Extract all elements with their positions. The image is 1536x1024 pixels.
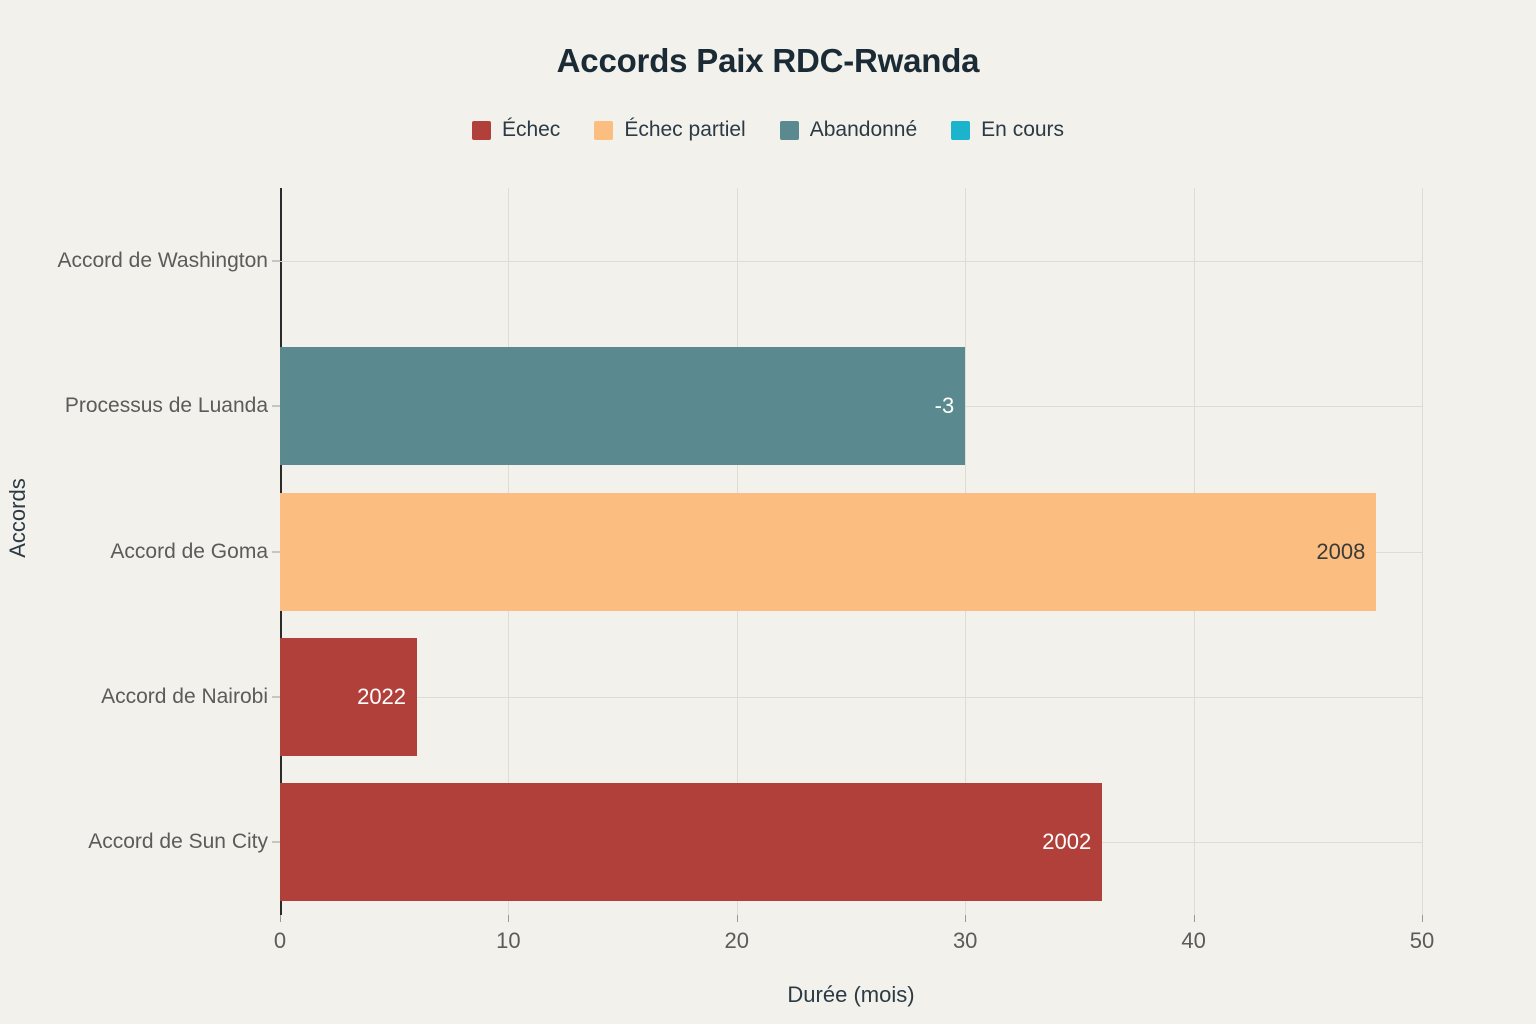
- y-axis-tick-mark: [272, 842, 280, 843]
- gridline-horizontal: [280, 697, 1422, 698]
- bar[interactable]: 2002: [280, 783, 1102, 901]
- bar-value-label: 2002: [1042, 829, 1091, 855]
- y-axis-title: Accords: [5, 438, 31, 598]
- x-axis-tick-label: 30: [953, 928, 977, 954]
- legend-swatch-icon: [594, 121, 613, 140]
- chart-title: Accords Paix RDC-Rwanda: [0, 42, 1536, 80]
- legend-swatch-icon: [472, 121, 491, 140]
- x-axis-tick-label: 0: [274, 928, 286, 954]
- legend-item[interactable]: En cours: [951, 118, 1064, 142]
- legend-item[interactable]: Échec partiel: [594, 118, 745, 142]
- plot-area: -3200820222002: [280, 188, 1422, 915]
- gridline-horizontal: [280, 261, 1422, 262]
- x-axis-title: Durée (mois): [280, 982, 1422, 1008]
- y-axis-tick-label: Accord de Goma: [110, 540, 268, 564]
- x-axis-tick-mark: [280, 915, 281, 922]
- x-axis-tick-label: 50: [1410, 928, 1434, 954]
- legend-label: Échec: [502, 118, 560, 142]
- chart-legend: ÉchecÉchec partielAbandonnéEn cours: [0, 118, 1536, 142]
- y-axis-tick-mark: [272, 696, 280, 697]
- x-axis-tick-label: 20: [725, 928, 749, 954]
- bar[interactable]: 2022: [280, 638, 417, 756]
- y-axis-tick-label: Processus de Luanda: [65, 394, 268, 418]
- legend-swatch-icon: [780, 121, 799, 140]
- y-axis-tick-label: Accord de Sun City: [88, 830, 268, 854]
- y-axis-tick-mark: [272, 260, 280, 261]
- x-axis-tick-label: 40: [1181, 928, 1205, 954]
- gridline-vertical: [1422, 188, 1423, 915]
- x-axis-tick-mark: [508, 915, 509, 922]
- bar-value-label: 2022: [357, 684, 406, 710]
- legend-label: Abandonné: [810, 118, 917, 142]
- x-axis-tick-mark: [737, 915, 738, 922]
- legend-label: Échec partiel: [624, 118, 745, 142]
- y-axis-tick-mark: [272, 551, 280, 552]
- legend-item[interactable]: Abandonné: [780, 118, 917, 142]
- bar[interactable]: -3: [280, 347, 965, 465]
- x-axis-tick-mark: [1422, 915, 1423, 922]
- y-axis-tick-label: Accord de Nairobi: [101, 685, 268, 709]
- bar-value-label: -3: [935, 393, 955, 419]
- x-axis-tick-mark: [1194, 915, 1195, 922]
- legend-label: En cours: [981, 118, 1064, 142]
- y-axis-tick-mark: [272, 406, 280, 407]
- x-axis-tick-mark: [965, 915, 966, 922]
- legend-item[interactable]: Échec: [472, 118, 560, 142]
- x-axis-tick-label: 10: [496, 928, 520, 954]
- legend-swatch-icon: [951, 121, 970, 140]
- bar-value-label: 2008: [1316, 539, 1365, 565]
- bar[interactable]: 2008: [280, 493, 1376, 611]
- y-axis-tick-label: Accord de Washington: [57, 249, 268, 273]
